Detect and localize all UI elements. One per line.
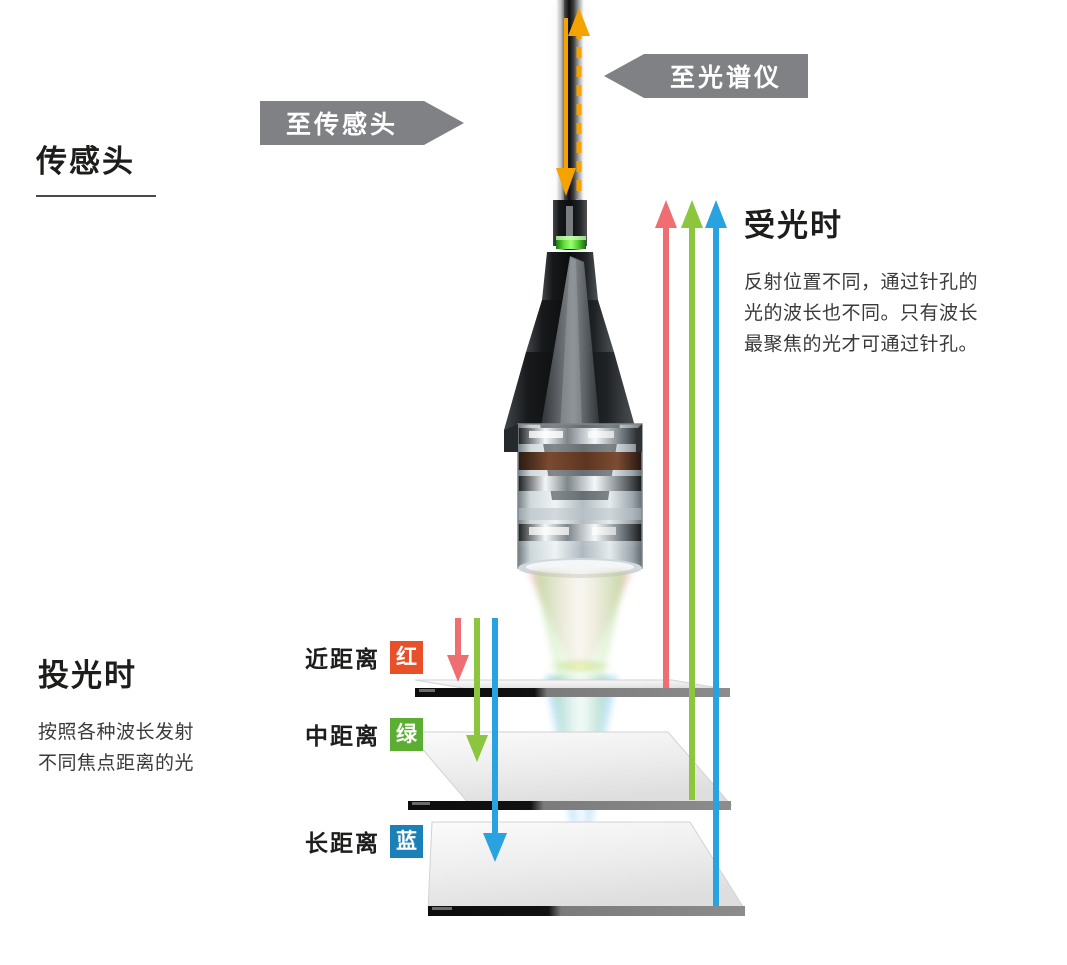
received-arrow-red: [655, 200, 677, 688]
receiving-line-3: 最聚焦的光才可通过针孔。: [744, 329, 1044, 360]
callout-to-sensor-head[interactable]: 至传感头: [260, 101, 464, 145]
callout-to-spectrometer[interactable]: 至光谱仪: [604, 54, 808, 98]
distance-label-near: 近距离 红: [305, 640, 423, 674]
distance-label-far-text: 长距离: [305, 824, 380, 858]
receiving-title: 受光时: [744, 200, 1044, 245]
emitting-line-2: 不同焦点距离的光: [38, 748, 298, 779]
distance-label-mid: 中距离 绿: [305, 717, 423, 751]
badge-red: 红: [390, 641, 423, 674]
callout-pointer-right-icon: [424, 101, 464, 145]
emitting-title: 投光时: [38, 650, 298, 695]
badge-green: 绿: [390, 718, 423, 751]
callout-to-sensor-head-body: 至传感头: [260, 101, 424, 145]
badge-blue: 蓝: [390, 825, 423, 858]
lens-barrel: [518, 424, 642, 578]
emitting-line-1: 按照各种波长发射: [38, 717, 298, 748]
receiving-body: 反射位置不同，通过针孔的 光的波长也不同。只有波长 最聚焦的光才可通过针孔。: [744, 267, 1044, 360]
target-plate-near: [415, 680, 730, 697]
emitting-body: 按照各种波长发射 不同焦点距离的光: [38, 717, 298, 779]
receiving-line-1: 反射位置不同，通过针孔的: [744, 267, 1044, 298]
section-emitting: 投光时 按照各种波长发射 不同焦点距离的光: [38, 650, 298, 779]
section-sensor-head: 传感头: [36, 136, 266, 197]
section-receiving: 受光时 反射位置不同，通过针孔的 光的波长也不同。只有波长 最聚焦的光才可通过针…: [744, 200, 1044, 360]
diagram-canvas: 至传感头 至光谱仪 传感头 受光时 反射位置不同，通过针孔的 光的波长也不同。只…: [0, 0, 1067, 965]
callout-to-sensor-head-label: 至传感头: [286, 105, 398, 141]
distance-label-near-text: 近距离: [305, 640, 380, 674]
sensor-head-title: 传感头: [36, 136, 266, 181]
received-arrow-green: [681, 200, 703, 800]
callout-to-spectrometer-label: 至光谱仪: [670, 58, 782, 94]
distance-label-mid-text: 中距离: [305, 717, 380, 751]
target-plate-far: [428, 822, 745, 916]
distance-label-far: 长距离 蓝: [305, 824, 423, 858]
callout-to-spectrometer-body: 至光谱仪: [644, 54, 808, 98]
receiving-line-2: 光的波长也不同。只有波长: [744, 298, 1044, 329]
callout-pointer-left-icon: [604, 54, 644, 98]
sensor-probe-body: [504, 200, 642, 578]
emitted-arrow-red: [447, 618, 469, 682]
target-plate-mid: [408, 732, 731, 810]
sensor-head-title-rule: [36, 195, 156, 197]
